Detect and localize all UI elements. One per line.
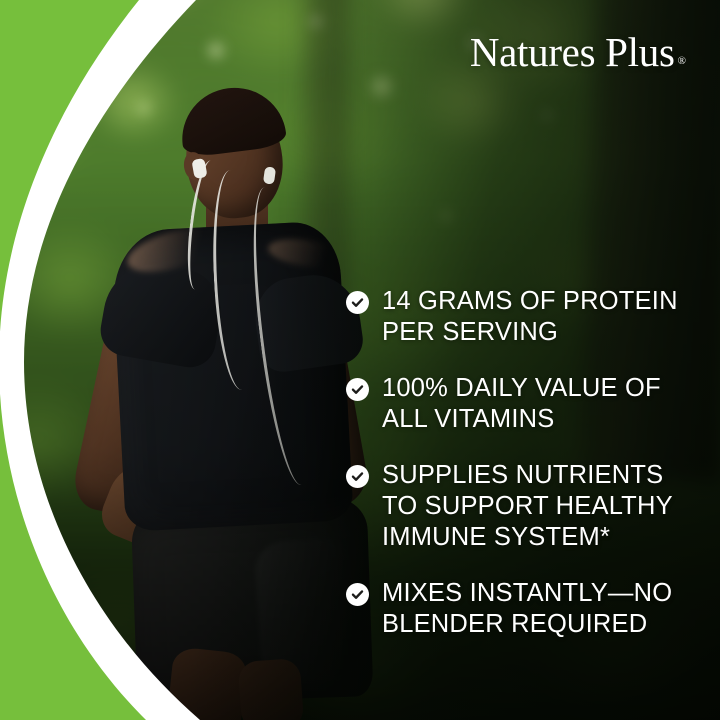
check-circle-icon [346, 465, 369, 488]
brand-logo-text: Natures Plus [470, 32, 675, 73]
check-circle-icon [346, 378, 369, 401]
benefits-list: 14 GRAMS OF PROTEIN PER SERVING 100% DAI… [346, 286, 694, 639]
list-item: MIXES INSTANTLY—NO BLENDER REQUIRED [346, 578, 694, 639]
list-item: SUPPLIES NUTRIENTS TO SUPPORT HEALTHY IM… [346, 460, 694, 552]
check-circle-icon [346, 583, 369, 606]
list-item: 14 GRAMS OF PROTEIN PER SERVING [346, 286, 694, 347]
check-circle-icon [346, 291, 369, 314]
benefit-text: 100% DAILY VALUE OF ALL VITAMINS [382, 373, 661, 434]
registered-trademark-icon: ® [678, 56, 686, 67]
benefit-text: SUPPLIES NUTRIENTS TO SUPPORT HEALTHY IM… [382, 460, 673, 552]
product-benefits-banner: Natures Plus ® 14 GRAMS OF PROTEIN PER S… [0, 0, 720, 720]
list-item: 100% DAILY VALUE OF ALL VITAMINS [346, 373, 694, 434]
brand-logo: Natures Plus ® [470, 32, 686, 73]
benefit-text: 14 GRAMS OF PROTEIN PER SERVING [382, 286, 678, 347]
benefit-text: MIXES INSTANTLY—NO BLENDER REQUIRED [382, 578, 672, 639]
